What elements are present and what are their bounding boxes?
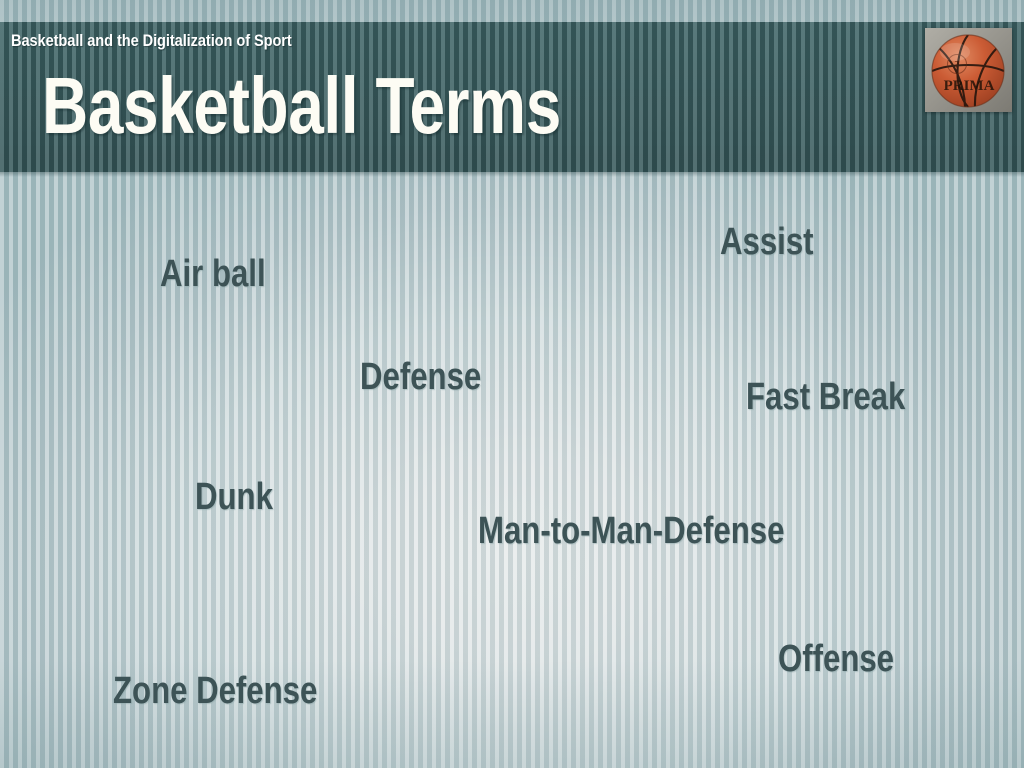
presentation-subtitle: Basketball and the Digitalization of Spo… — [11, 31, 292, 51]
basketball-photo: 7 PRIMA — [925, 28, 1012, 112]
ball-brand-text: PRIMA — [944, 78, 995, 94]
term-offense: Offense — [778, 640, 894, 678]
header-drop-shadow — [0, 172, 1024, 177]
svg-text:7: 7 — [954, 60, 959, 70]
term-air-ball: Air ball — [160, 255, 266, 293]
basketball-icon: 7 PRIMA — [925, 28, 1012, 112]
presentation-slide: Basketball and the Digitalization of Spo… — [0, 0, 1024, 768]
page-title: Basketball Terms — [42, 66, 561, 146]
term-fast-break: Fast Break — [746, 378, 905, 416]
term-man-to-man-defense: Man-to-Man-Defense — [478, 512, 784, 550]
term-dunk: Dunk — [195, 478, 273, 516]
term-zone-defense: Zone Defense — [113, 672, 317, 710]
term-defense: Defense — [360, 358, 481, 396]
term-assist: Assist — [720, 223, 814, 261]
